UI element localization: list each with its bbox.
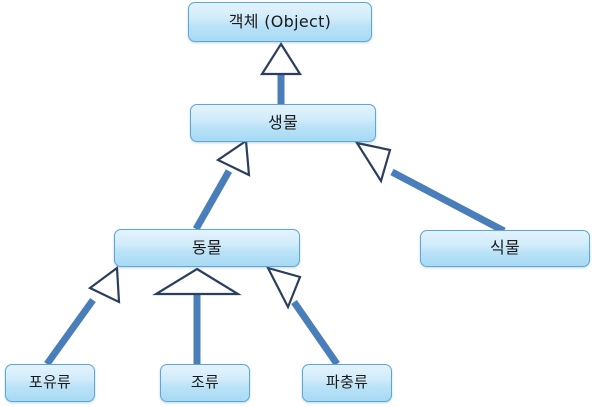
edge-mammal-to-animal [47,268,119,364]
edge-bird-to-animal [156,269,238,364]
edge-plant-to-living [357,143,504,231]
node-reptile[interactable]: 파충류 [302,364,392,402]
edge-living-to-object [262,44,300,104]
node-label: 객체 (Object) [229,14,331,31]
hollow-triangle-arrowhead [357,143,390,181]
node-object[interactable]: 객체 (Object) [188,2,372,42]
node-mammal[interactable]: 포유류 [5,364,95,402]
connector-layer [0,0,600,407]
hollow-triangle-arrowhead [268,268,300,307]
node-label: 식물 [490,240,520,257]
node-label: 생물 [268,115,298,132]
edge-reptile-to-animal [268,268,337,364]
connector-line [196,171,229,229]
node-label: 조류 [191,375,219,391]
connector-line [47,300,93,364]
connector-line [294,302,337,364]
node-label: 동물 [192,240,222,257]
hollow-triangle-arrowhead [156,269,238,294]
node-animal[interactable]: 동물 [114,229,300,267]
hollow-triangle-arrowhead [90,268,119,302]
hollow-triangle-arrowhead [262,44,300,74]
node-label: 파충류 [326,375,368,391]
edge-animal-to-living [196,141,249,229]
node-living[interactable]: 생물 [190,104,376,142]
node-bird[interactable]: 조류 [160,364,250,402]
node-label: 포유류 [29,375,71,391]
connector-line [392,172,504,231]
node-plant[interactable]: 식물 [420,230,590,267]
hollow-triangle-arrowhead [218,141,249,175]
diagram-canvas: 객체 (Object) 생물 동물 식물 포유류 조류 파충류 [0,0,600,407]
